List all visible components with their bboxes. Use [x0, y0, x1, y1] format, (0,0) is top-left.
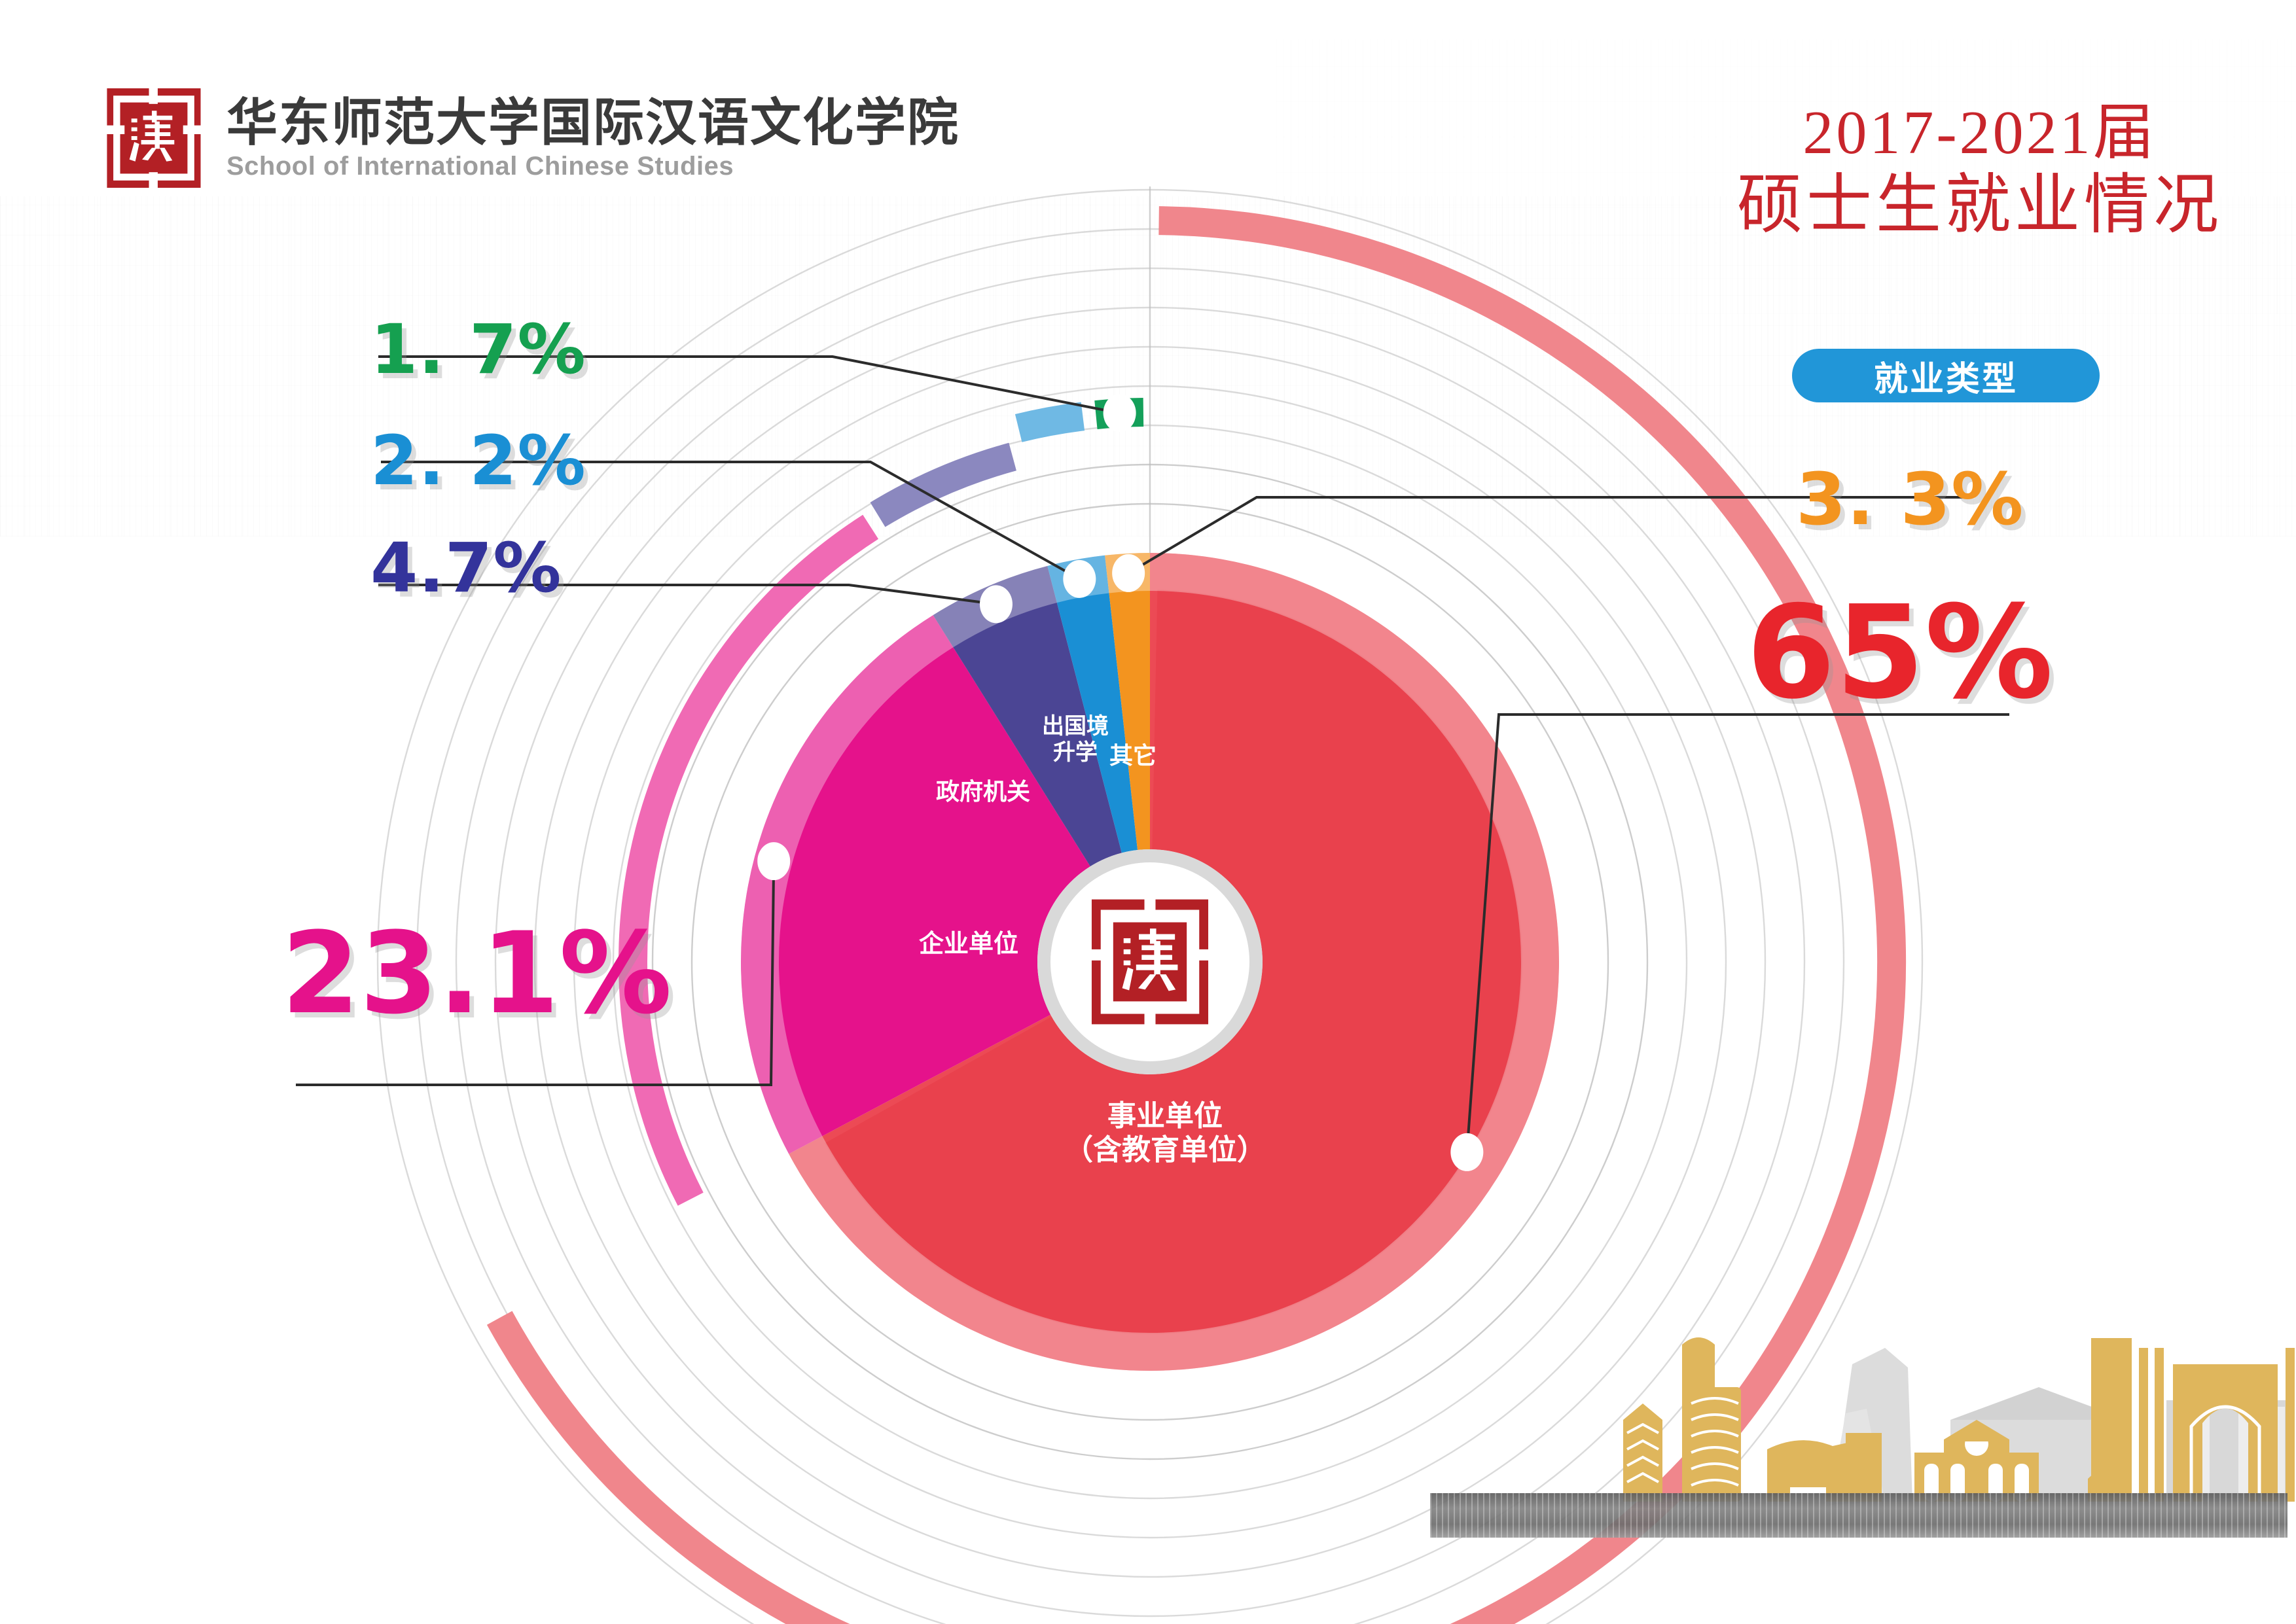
- leader-dot: [1103, 394, 1136, 432]
- ground-bar: [1430, 1493, 2287, 1538]
- callout-percent-65: 65%: [1746, 589, 2053, 717]
- leader-dot: [980, 585, 1013, 623]
- callout-percent-4-7: 4.7%: [370, 534, 562, 602]
- slice-label: 其它: [1109, 743, 1157, 769]
- leader-dot: [1450, 1133, 1483, 1171]
- leader-dot: [1112, 554, 1145, 592]
- callout-percent-23-1: 23.1%: [281, 917, 672, 1030]
- outer-arc: [1018, 416, 1083, 428]
- callout-percent-2-2: 2. 2%: [370, 427, 586, 495]
- callout-percent-3-3: 3. 3%: [1796, 463, 2024, 535]
- slice-label: 企业单位: [919, 929, 1018, 958]
- leader-dot: [1063, 560, 1096, 598]
- infographic-canvas: 华东师范大学国际汉语文化学院 School of International C…: [0, 0, 2296, 1624]
- slice-label: 政府机关: [936, 778, 1030, 805]
- callout-percent-1-7: 1. 7%: [370, 315, 586, 383]
- center-han-seal-logo-icon: [1086, 894, 1213, 1030]
- leader-dot: [757, 842, 790, 880]
- center-hub: [1037, 849, 1263, 1074]
- outer-arc: [878, 457, 1013, 515]
